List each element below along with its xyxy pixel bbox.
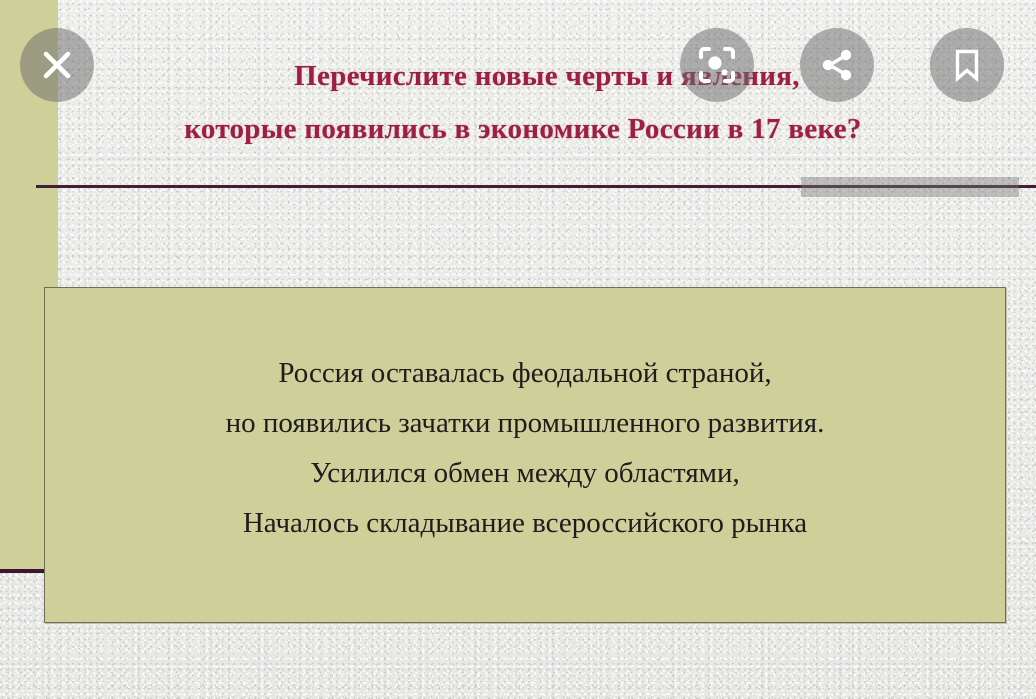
slide-content-line-3: Усилился обмен между областями, xyxy=(45,448,1005,498)
share-icon xyxy=(815,43,859,87)
slide-content-line-1: Россия оставалась феодальной страной, xyxy=(45,348,1005,398)
viewer-progress-bar[interactable] xyxy=(801,177,1019,197)
lens-icon xyxy=(695,43,739,87)
slide-content-text: Россия оставалась феодальной страной, но… xyxy=(45,348,1005,548)
share-button[interactable] xyxy=(800,28,874,102)
lens-search-button[interactable] xyxy=(680,28,754,102)
image-viewer[interactable]: Перечислите новые черты и явления, котор… xyxy=(0,0,1036,699)
close-icon xyxy=(35,43,79,87)
slide-content-line-4: Началось складывание всероссийского рынк… xyxy=(45,498,1005,548)
slide-heading-line-1: Перечислите новые черты и явления, xyxy=(58,50,1036,103)
slide-heading: Перечислите новые черты и явления, котор… xyxy=(58,50,1036,156)
slide-content-line-2: но появились зачатки промышленного разви… xyxy=(45,398,1005,448)
save-bookmark-button[interactable] xyxy=(930,28,1004,102)
bookmark-icon xyxy=(945,43,989,87)
close-button[interactable] xyxy=(20,28,94,102)
slide-image[interactable]: Перечислите новые черты и явления, котор… xyxy=(0,0,1036,699)
slide-heading-line-2: которые появились в экономике России в 1… xyxy=(10,103,1036,156)
slide-left-accent-foot xyxy=(0,569,44,573)
slide-content-box: Россия оставалась феодальной страной, но… xyxy=(44,287,1006,623)
